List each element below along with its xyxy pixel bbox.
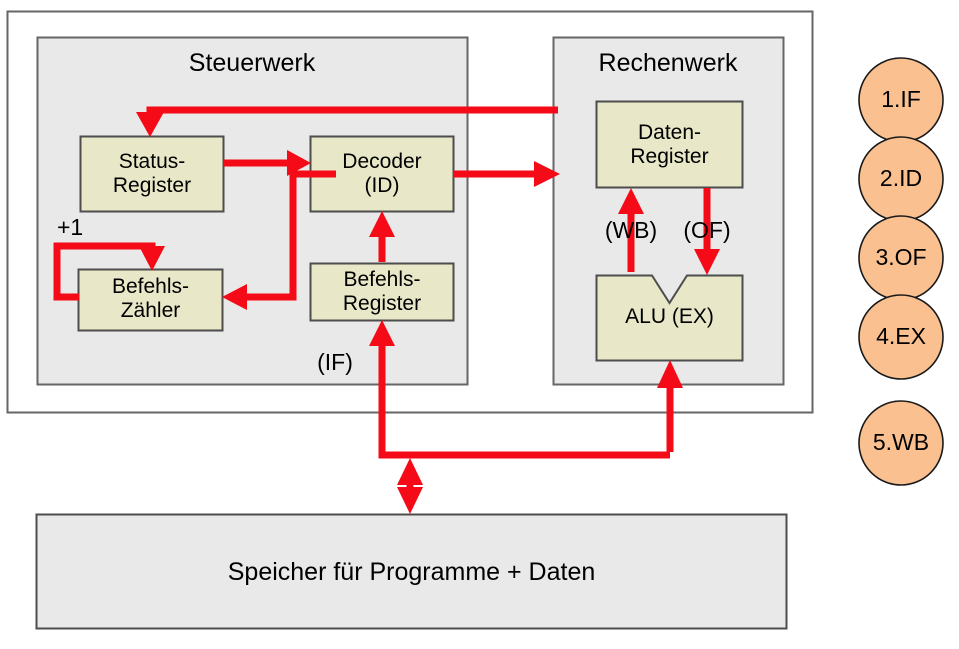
phase-circle-1[interactable] [859, 58, 943, 142]
phase-circle-3[interactable] [859, 216, 943, 300]
phase-circle-2[interactable] [859, 137, 943, 221]
diagram-canvas: Steuerwerk Rechenwerk Status- Register D… [0, 0, 959, 649]
phase-circle-4[interactable] [859, 295, 943, 379]
phase-circles-layer [0, 0, 959, 649]
phase-circle-5[interactable] [859, 401, 943, 485]
